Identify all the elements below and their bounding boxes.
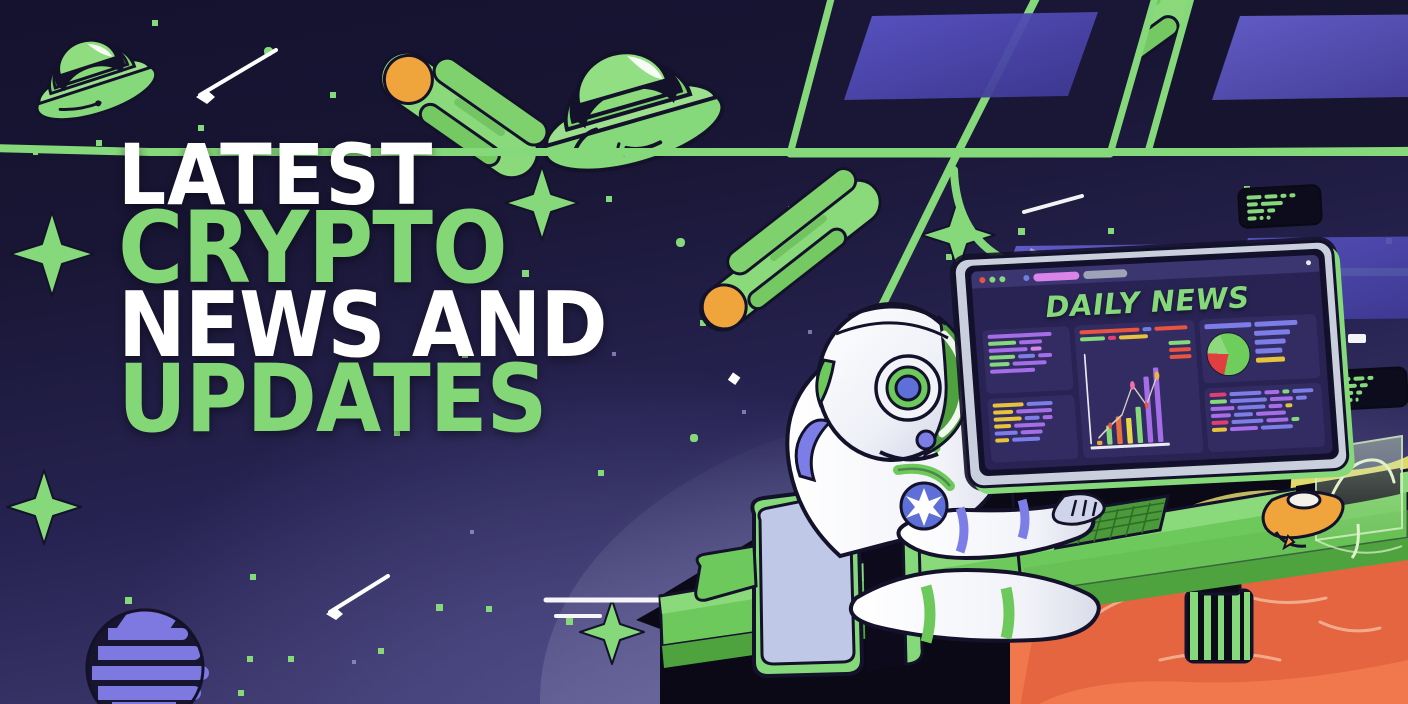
dashboard [975,314,1333,471]
bar [1136,407,1144,443]
data-bar [1014,422,1045,428]
data-bar [1280,194,1287,198]
helmet [817,304,971,460]
data-bar [1080,328,1140,335]
data-bar [1026,401,1053,406]
chart-legend-row [1169,347,1191,352]
data-bar [1264,194,1277,199]
data-bar [1230,391,1262,397]
data-bar [1267,216,1271,220]
data-bar [1233,412,1252,417]
pie-legend-item [1254,329,1290,336]
data-bar [994,424,1011,429]
pie-legend-item [1256,356,1285,362]
data-bar [1353,376,1364,381]
data-bar [1267,208,1275,212]
headline-line-4: UPDATES [118,361,607,440]
data-bar [1355,398,1359,402]
data-bar [1246,195,1261,200]
data-bar [1367,376,1373,380]
data-bar [1292,388,1314,393]
data-bar [1119,334,1148,339]
data-row [990,366,1068,374]
data-bar [1256,410,1286,415]
data-bar [1260,201,1283,206]
chart-legend-swatch [1169,347,1191,352]
wall-terminal-upper[interactable] [1237,184,1323,229]
data-row [1247,206,1313,213]
bar [1144,376,1154,442]
data-bar [1212,427,1227,432]
bar [1097,441,1103,446]
data-bar [992,402,1023,408]
data-bar [1286,403,1293,407]
monitor: DAILY NEWS [952,239,1351,489]
data-bar [1154,325,1187,331]
favicon-dot [1023,274,1029,280]
data-bar [995,431,1019,436]
data-bar [1260,216,1264,220]
data-bar [1247,202,1258,207]
data-bar [1012,436,1040,441]
data-bar [1043,415,1053,419]
crypto-news-banner: DAILY NEWS [0,0,1408,704]
data-bar [1210,392,1227,397]
data-bar [994,416,1022,421]
data-bar [1018,354,1035,359]
data-bar [989,362,1009,367]
data-bar [1269,396,1293,401]
pie-legend-item [1256,348,1283,354]
pie-chart[interactable] [1205,331,1252,377]
mission-badge [901,483,947,529]
chart-legend-row [1170,354,1192,359]
panel-charts[interactable] [1074,320,1204,459]
data-row [1247,199,1313,206]
data-bar [1232,419,1264,425]
data-row [1338,374,1398,381]
data-bar [1296,395,1307,400]
data-bar [1261,424,1293,430]
data-bar [1016,408,1052,414]
data-bar [1290,193,1295,197]
data-bar [1283,389,1290,393]
data-bar [1356,390,1362,394]
data-bar [1212,420,1229,425]
data-bar [1348,398,1352,402]
data-bar [1291,417,1300,421]
data-bar [1038,353,1052,358]
data-bar [1019,339,1043,344]
data-bar [988,347,1027,353]
panel-article-list-top[interactable] [982,326,1074,394]
chart-x-axis [1092,444,1170,448]
window-maximize-dot[interactable] [999,276,1005,282]
data-bar [990,368,1035,374]
data-bar [1267,417,1289,422]
headline: LATEST CRYPTO NEWS AND UPDATES [118,140,607,440]
browser-tab-inactive[interactable] [1083,269,1128,279]
chart-legend-swatch [1169,340,1191,345]
pie-legend-item [1255,338,1286,345]
chart-legend-row [1169,340,1191,345]
dashboard-column-right [1199,314,1325,452]
data-bar [1142,327,1151,331]
panel-article-list-bottom[interactable] [987,395,1079,463]
dashboard-column-left [982,326,1079,463]
data-bar [1211,406,1235,411]
data-row [1247,213,1313,220]
data-bar [995,438,1009,443]
monitor-bezel: DAILY NEWS [964,248,1339,476]
combo-chart[interactable] [1081,341,1173,453]
data-bar [989,355,1016,360]
data-bar [1080,336,1104,341]
data-bar [1268,404,1283,409]
data-bar [1211,413,1230,418]
data-bar [1210,399,1227,404]
panel-data-table[interactable] [1204,383,1325,453]
data-bar [1030,346,1041,351]
data-bar [1237,404,1265,409]
data-row [995,435,1073,443]
data-bar [988,341,1016,346]
green-canister [1186,582,1252,662]
data-bar [1265,390,1280,395]
data-bar [1360,383,1369,387]
data-row [1339,395,1399,402]
window-minimize-dot[interactable] [989,276,995,282]
browser-tab-active[interactable] [1033,271,1080,281]
dashboard-column-middle [1074,320,1204,459]
chart-y-axis [1085,355,1091,443]
bar [1126,418,1133,444]
window-close-dot[interactable] [979,277,985,283]
data-row [1339,381,1399,388]
data-row [1246,192,1312,199]
data-row [1339,388,1399,395]
data-bar [1247,209,1264,214]
data-bar [987,332,1051,339]
data-bar [1230,397,1267,403]
panel-pie-chart[interactable] [1199,314,1320,384]
data-bar [1013,360,1047,366]
screen: DAILY NEWS [971,255,1333,470]
data-bar [1107,336,1116,340]
data-bar [1230,426,1258,431]
chart-legend-swatch [1170,354,1192,359]
data-bar [1024,415,1040,420]
data-bar [1247,216,1256,220]
data-bar [1021,429,1043,434]
data-bar [993,410,1013,415]
